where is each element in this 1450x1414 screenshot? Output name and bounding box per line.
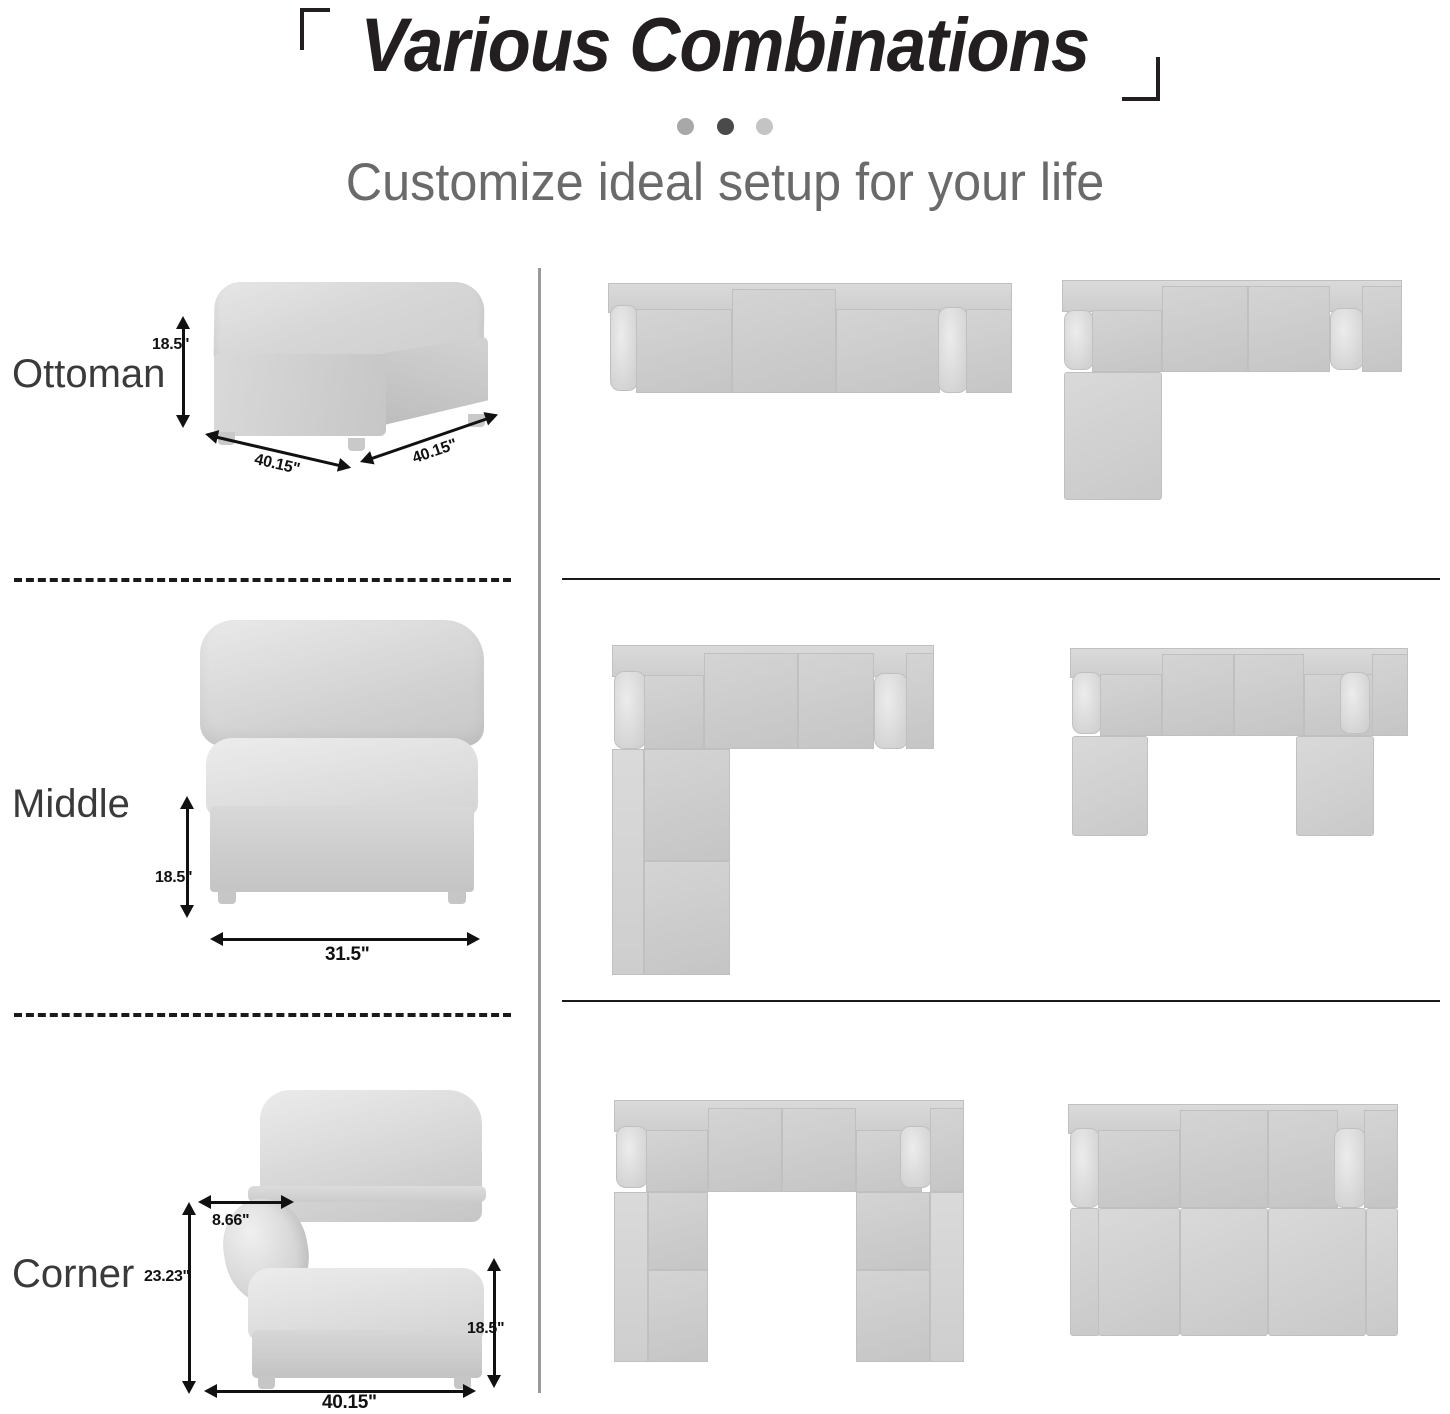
ushape-lg-chaise-r1: [856, 1192, 930, 1270]
middle-backrest-cushion: [200, 620, 484, 746]
lshape-lg-chaise-1: [644, 749, 730, 861]
fullpit-seat-1: [1098, 1130, 1180, 1208]
middle-foot-2: [448, 890, 466, 904]
vertical-divider: [538, 268, 541, 1393]
corner-base: [252, 1330, 482, 1378]
middle-foot-1: [218, 890, 236, 904]
dot-2-icon: [717, 118, 734, 135]
fullpit-bolster-left: [1070, 1128, 1100, 1208]
ushape-bolster-left: [1072, 672, 1102, 734]
middle-width-value: 31.5": [325, 944, 370, 966]
divider-solid-1: [562, 578, 1440, 580]
lshape-lg-chaise-2: [644, 861, 730, 975]
config-l-shape-large: [612, 645, 934, 975]
straight-left-bolster: [610, 305, 638, 391]
fullpit-bolster-right: [1334, 1128, 1366, 1208]
middle-seat-cushion: [206, 738, 478, 816]
lshape-seat-4: [1362, 286, 1402, 372]
ottoman-front-panel: [214, 354, 386, 436]
config-straight-sofa: [608, 283, 1012, 395]
lshape-lg-seat-1: [644, 675, 704, 749]
fullpit-seat-2: [1180, 1110, 1268, 1208]
corner-width-value: 40.15": [322, 1392, 377, 1414]
corner-module-illustration: [196, 1090, 488, 1380]
ushape-lg-bolster-right: [900, 1126, 932, 1188]
ushape-seat-1: [1100, 674, 1162, 736]
corner-back-height-value: 23.23": [144, 1268, 190, 1286]
straight-seat-3: [836, 309, 940, 393]
lshape-lg-seat-4: [906, 653, 934, 749]
ushape-seat-3: [1234, 654, 1304, 736]
lshape-lg-side-backrest: [612, 749, 644, 975]
lshape-seat-1: [1092, 310, 1162, 372]
straight-seat-2: [732, 289, 836, 393]
corner-seat-height-value: 18.5": [467, 1320, 504, 1338]
middle-module-illustration: [196, 620, 488, 920]
ushape-lg-seat-2: [708, 1108, 782, 1192]
ushape-lg-chaise-l2: [648, 1270, 708, 1362]
corner-back-height-arrow: [182, 1202, 196, 1394]
lshape-seat-3: [1248, 286, 1330, 372]
ottoman-foot-2: [348, 438, 365, 451]
lshape-left-bolster: [1064, 310, 1094, 370]
config-u-shape-large: [614, 1100, 964, 1362]
ushape-lg-bolster-left: [616, 1126, 648, 1188]
ushape-chaise-right: [1296, 736, 1374, 836]
fullpit-seat-4: [1364, 1110, 1398, 1208]
ushape-lg-seat-1: [646, 1130, 708, 1192]
ushape-seat-2: [1162, 654, 1234, 736]
page-title-wrap: Various Combinations: [0, 6, 1450, 86]
dot-1-icon: [677, 118, 694, 135]
divider-dashed-2: [14, 1013, 511, 1017]
divider-dashed-1: [14, 578, 511, 582]
header: Various Combinations Customize ideal set…: [0, 0, 1450, 250]
straight-seat-1: [636, 309, 732, 393]
module-label-middle: Middle: [12, 782, 130, 827]
ushape-bolster-right: [1340, 672, 1370, 734]
page-subtitle: Customize ideal setup for your life: [36, 152, 1414, 213]
lshape-right-bolster: [1330, 308, 1364, 370]
fullpit-seat-8: [1268, 1208, 1366, 1336]
straight-seat-4: [966, 309, 1012, 393]
corner-bolster-width-arrow: [198, 1195, 294, 1209]
fullpit-seat-6: [1098, 1208, 1180, 1336]
module-label-corner: Corner: [12, 1252, 134, 1297]
ottoman-height-value: 18.5": [152, 336, 189, 354]
ushape-chaise-left: [1072, 736, 1148, 836]
ushape-lg-seat-3: [782, 1108, 856, 1192]
straight-right-bolster: [938, 307, 968, 393]
fullpit-seat-9: [1366, 1208, 1398, 1336]
divider-solid-2: [562, 1000, 1440, 1002]
ushape-lg-chaise-l1: [648, 1192, 708, 1270]
corner-bolster-width-value: 8.66": [212, 1212, 249, 1230]
lshape-chaise: [1064, 372, 1162, 500]
dot-separator: [0, 118, 1450, 136]
ottoman-height-arrow: [176, 316, 190, 428]
module-label-ottoman: Ottoman: [12, 352, 165, 397]
ushape-lg-seat-5: [930, 1108, 964, 1192]
fullpit-seat-3: [1268, 1110, 1338, 1208]
middle-base: [210, 806, 474, 892]
page-title: Various Combinations: [361, 6, 1090, 86]
lshape-seat-2: [1162, 286, 1248, 372]
dot-3-icon: [756, 118, 773, 135]
fullpit-seat-5: [1070, 1208, 1100, 1336]
ushape-lg-side-backrest-right: [930, 1192, 964, 1362]
config-u-shape-small: [1070, 648, 1408, 836]
lshape-lg-bolster-right: [874, 673, 908, 749]
config-l-shape-small: [1062, 280, 1402, 505]
ushape-lg-chaise-r2: [856, 1270, 930, 1362]
config-full-pit: [1068, 1104, 1398, 1336]
fullpit-seat-7: [1180, 1208, 1268, 1336]
lshape-lg-bolster-left: [614, 671, 646, 749]
middle-height-value: 18.5": [155, 869, 192, 887]
middle-height-arrow: [180, 796, 194, 918]
ushape-seat-5: [1372, 654, 1408, 736]
lshape-lg-seat-3: [798, 653, 874, 749]
ushape-lg-side-backrest-left: [614, 1192, 648, 1362]
lshape-lg-seat-2: [704, 653, 798, 749]
